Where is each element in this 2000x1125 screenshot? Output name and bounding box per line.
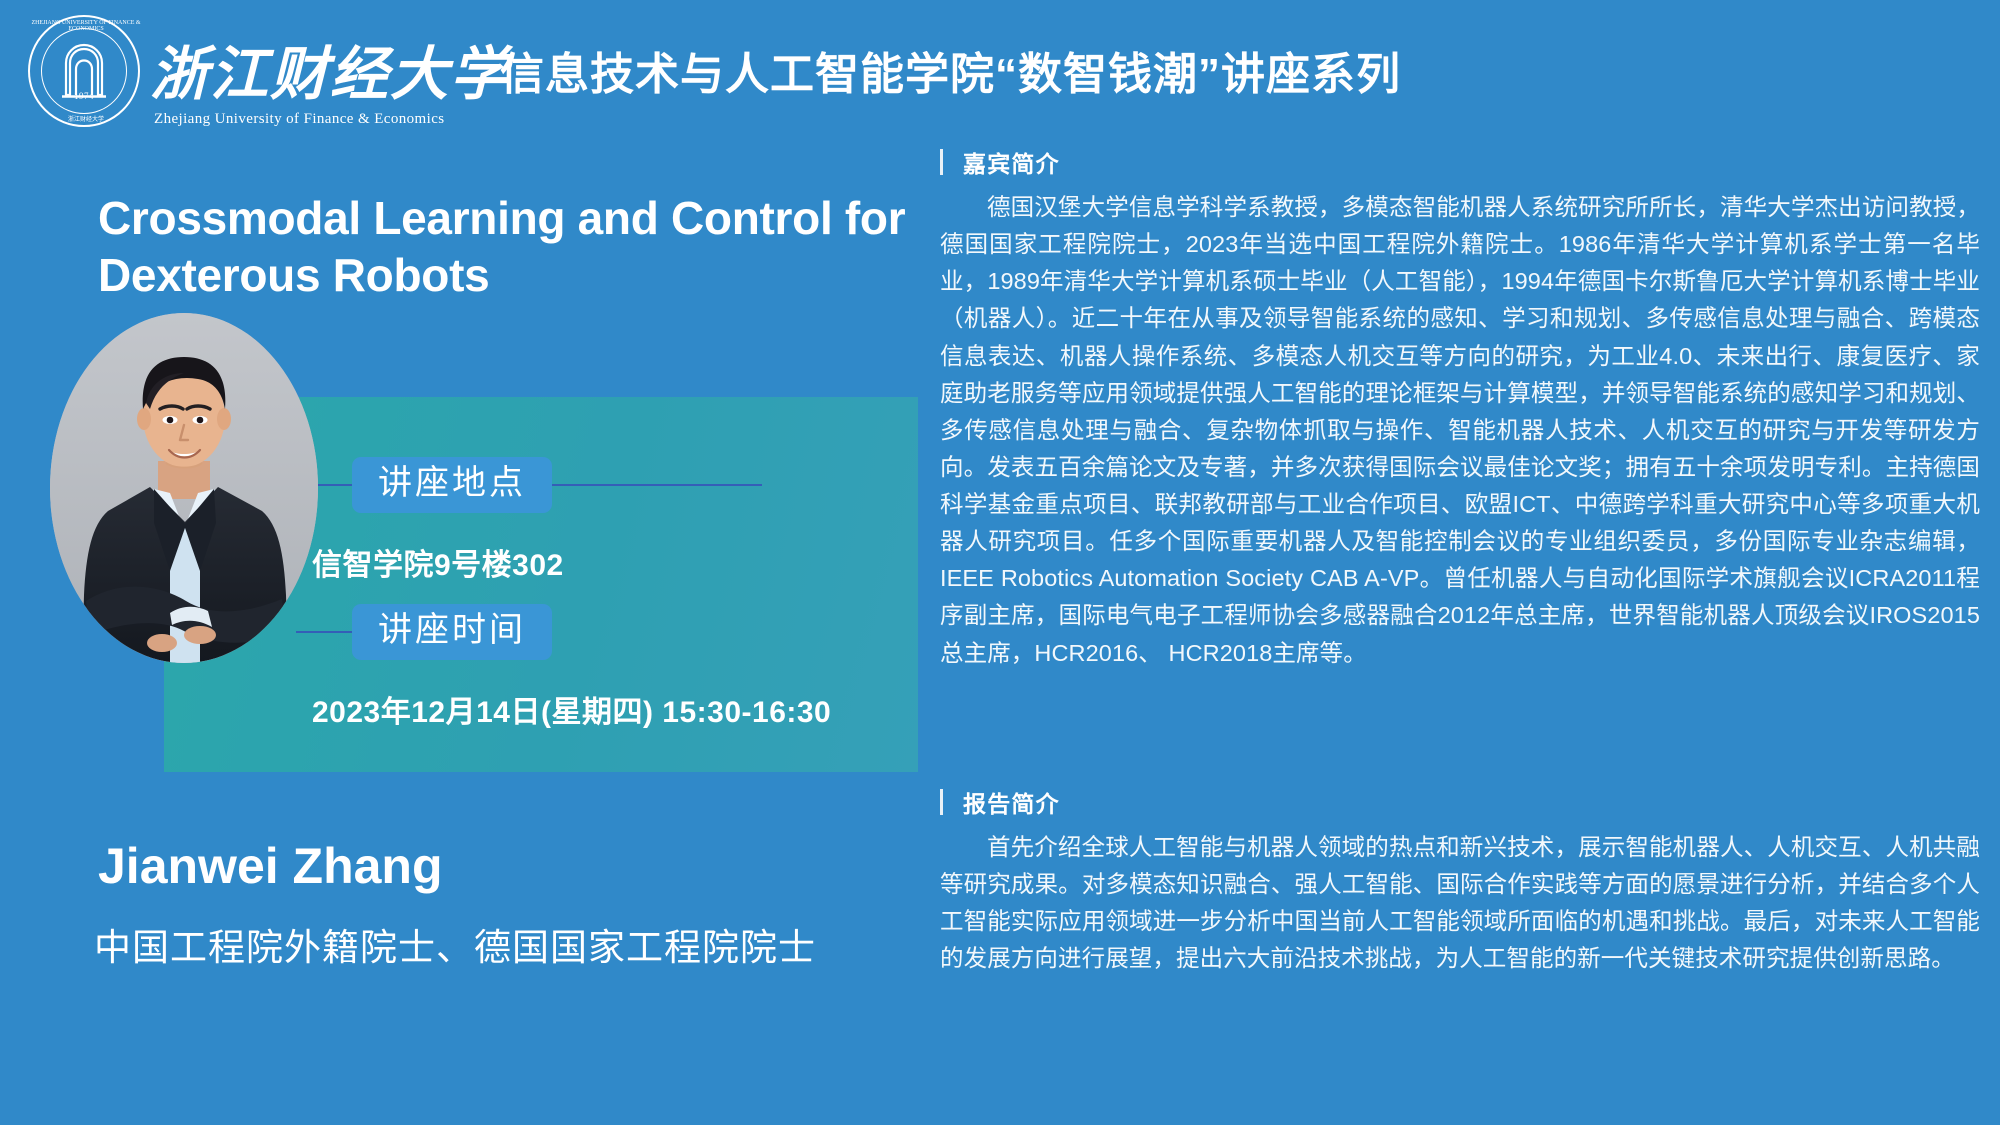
university-name-cn: 浙江财经大学 [150,27,510,111]
time-badge-row: 讲座时间 [296,604,552,660]
report-intro-body: 首先介绍全球人工智能与机器人领域的热点和新兴技术，展示智能机器人、人机交互、人机… [940,829,1980,978]
university-seal-icon: ZHEJIANG UNIVERSITY OF FINANCE & ECONOMI… [28,15,140,127]
section-bar-icon [940,149,943,175]
seal-arc-bottom-text: 浙江财经大学 [30,114,142,123]
badge-rule-right [552,484,762,486]
location-badge-row: 讲座地点 [296,457,762,513]
right-column: 嘉宾简介 德国汉堡大学信息学科学系教授，多模态智能机器人系统研究所所长，清华大学… [940,145,1980,1125]
university-logo: ZHEJIANG UNIVERSITY OF FINANCE & ECONOMI… [22,9,462,137]
report-intro-section: 报告简介 首先介绍全球人工智能与机器人领域的热点和新兴技术，展示智能机器人、人机… [940,785,1980,978]
left-column: Crossmodal Learning and Control for Dext… [0,145,930,1125]
guest-intro-body: 德国汉堡大学信息学科学系教授，多模态智能机器人系统研究所所长，清华大学杰出访问教… [940,189,1980,672]
time-label-badge: 讲座时间 [352,604,552,660]
guest-intro-section: 嘉宾简介 德国汉堡大学信息学科学系教授，多模态智能机器人系统研究所所长，清华大学… [940,145,1980,672]
lecture-poster: ZHEJIANG UNIVERSITY OF FINANCE & ECONOMI… [0,0,2000,1125]
speaker-portrait-image [50,313,318,663]
guest-intro-heading-label: 嘉宾简介 [963,145,1060,179]
seal-arc-top-text: ZHEJIANG UNIVERSITY OF FINANCE & ECONOMI… [30,20,142,32]
lecture-series-title: 信息技术与人工智能学院“数智钱潮”讲座系列 [500,38,1401,102]
guest-intro-heading: 嘉宾简介 [940,145,1980,179]
seal-year: 1974 [30,91,138,101]
report-intro-heading: 报告简介 [940,785,1980,819]
report-intro-heading-label: 报告简介 [963,785,1060,819]
location-label-badge: 讲座地点 [352,457,552,513]
location-value: 信智学院9号楼302 [312,540,564,584]
speaker-photo [50,313,318,663]
speaker-name: Jianwei Zhang [98,837,443,895]
talk-title: Crossmodal Learning and Control for Dext… [98,190,908,304]
speaker-title: 中国工程院外籍院士、德国国家工程院院士 [94,917,816,971]
university-name-en: Zhejiang University of Finance & Economi… [154,111,444,128]
poster-header: ZHEJIANG UNIVERSITY OF FINANCE & ECONOMI… [0,0,2000,145]
section-bar-icon [940,789,943,815]
time-value: 2023年12月14日(星期四) 15:30-16:30 [312,687,831,731]
